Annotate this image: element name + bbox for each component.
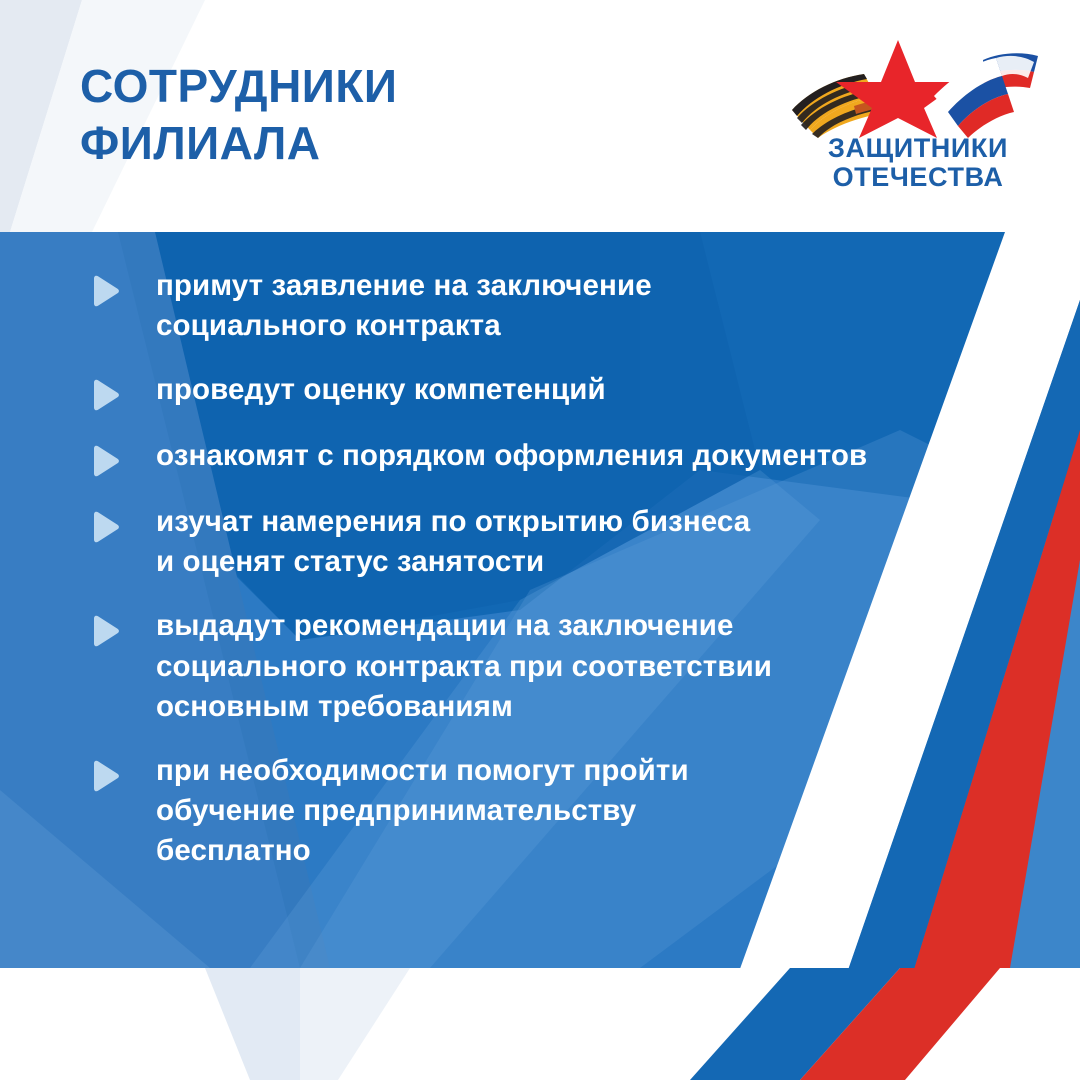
triangle-right-icon: [88, 759, 122, 793]
triangle-right-icon: [88, 614, 122, 648]
header: СОТРУДНИКИ ФИЛИАЛА: [0, 0, 1080, 232]
footer-stripe-white: [760, 968, 1010, 1080]
list-item-text: при необходимости помогут пройти обучени…: [156, 751, 1056, 871]
list-item: проведут оценку компетенций: [0, 370, 1080, 412]
footer-wedge-shape: [205, 968, 410, 1080]
list-item-text: ознакомят с порядком оформления документ…: [156, 436, 1056, 476]
footer-stripe-red: [800, 968, 1000, 1080]
russian-tricolor-ribbon-icon: [934, 37, 1042, 138]
list-item: ознакомят с порядком оформления документ…: [0, 436, 1080, 478]
footer-stripe-blue: [690, 968, 900, 1080]
list-item-text: примут заявление на заключение социально…: [156, 266, 1056, 346]
footer-wedge-shape-light: [300, 968, 410, 1080]
list-item: выдадут рекомендации на заключение социа…: [0, 606, 1080, 726]
poster-root: СОТРУДНИКИ ФИЛИАЛА: [0, 0, 1080, 1080]
list-item-text: выдадут рекомендации на заключение социа…: [156, 606, 1056, 726]
list-item-text: изучат намерения по открытию бизнеса и о…: [156, 502, 1056, 582]
list-item-text: проведут оценку компетенций: [156, 370, 1056, 410]
logo-emblem-icon: [784, 34, 1052, 138]
footer-band: [0, 968, 1080, 1080]
triangle-right-icon: [88, 378, 122, 412]
list-item: примут заявление на заключение социально…: [0, 266, 1080, 346]
triangle-right-icon: [88, 510, 122, 544]
benefits-list: примут заявление на заключение социально…: [0, 232, 1080, 968]
list-item: при необходимости помогут пройти обучени…: [0, 751, 1080, 871]
triangle-right-icon: [88, 274, 122, 308]
logo: ЗАЩИТНИКИ ОТЕЧЕСТВА: [784, 34, 1052, 194]
page-title: СОТРУДНИКИ ФИЛИАЛА: [80, 58, 398, 172]
list-item: изучат намерения по открытию бизнеса и о…: [0, 502, 1080, 582]
triangle-right-icon: [88, 444, 122, 478]
logo-text: ЗАЩИТНИКИ ОТЕЧЕСТВА: [784, 134, 1052, 192]
